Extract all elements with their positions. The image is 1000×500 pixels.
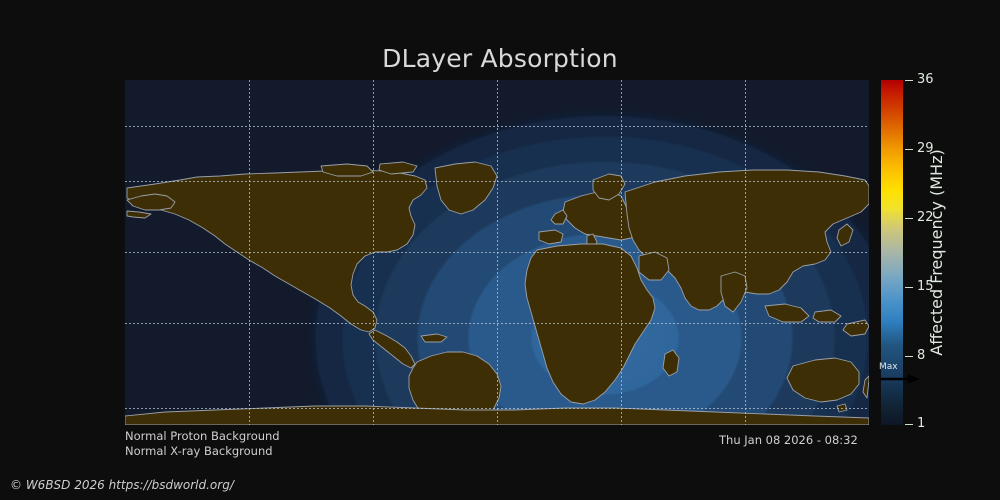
status-block: Normal Proton Background Normal X-ray Ba… <box>125 429 280 459</box>
gridline-lon-60e <box>621 80 622 425</box>
gridline-lon-60w <box>373 80 374 425</box>
world-map[interactable] <box>125 80 869 425</box>
copyright-notice: © W6BSD 2026 https://bsdworld.org/ <box>10 478 234 492</box>
colorbar-label-1: 1 <box>917 416 925 431</box>
colorbar-tick-1 <box>905 424 913 425</box>
gridline-lon-120e <box>745 80 746 425</box>
gridline-lon-0 <box>497 80 498 425</box>
colorbar-tick-22 <box>905 218 913 219</box>
max-marker: Max <box>879 362 939 386</box>
colorbar-label-8: 8 <box>917 348 925 363</box>
colorbar-tick-29 <box>905 149 913 150</box>
page-title: DLayer Absorption <box>0 44 1000 73</box>
colorbar-tick-8 <box>905 356 913 357</box>
status-xray-background: Normal X-ray Background <box>125 444 280 459</box>
status-proton-background: Normal Proton Background <box>125 429 280 444</box>
colorbar-tick-36 <box>905 80 913 81</box>
gridline-lon-120w <box>249 80 250 425</box>
colorbar-tick-15 <box>905 287 913 288</box>
iberian-peninsula <box>539 230 563 244</box>
max-marker-label: Max <box>879 362 898 372</box>
max-arrow-icon <box>880 373 924 386</box>
timestamp: Thu Jan 08 2026 - 08:32 <box>719 433 858 447</box>
